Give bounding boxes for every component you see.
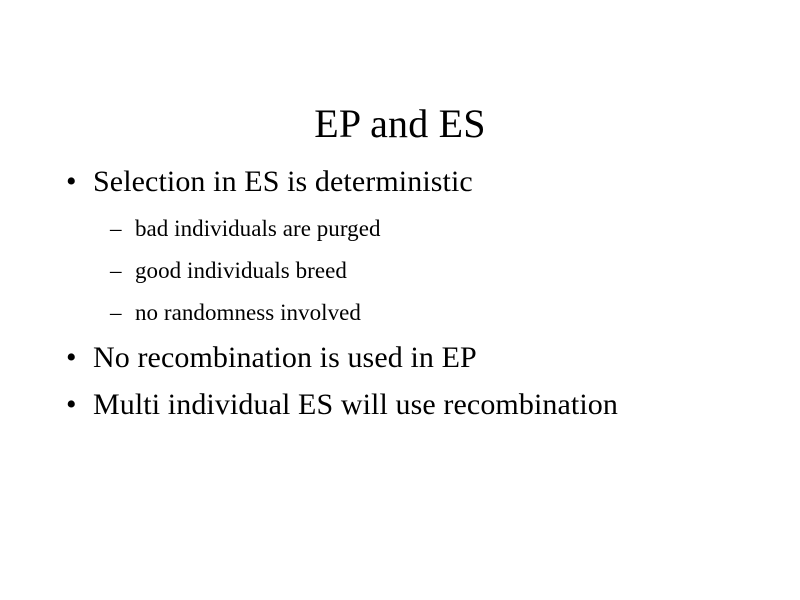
dash-bullet-icon: – bbox=[60, 254, 135, 287]
bullet-item-3: • Multi individual ES will use recombina… bbox=[60, 385, 760, 430]
sub-bullet-group: – bad individuals are purged – good indi… bbox=[60, 212, 760, 330]
bullet-item-2: • No recombination is used in EP bbox=[60, 338, 760, 383]
sub-bullet-text: good individuals breed bbox=[135, 254, 347, 287]
bullet-text: No recombination is used in EP bbox=[93, 338, 477, 378]
sub-bullet-text: no randomness involved bbox=[135, 296, 361, 329]
sub-bullet-item-2: – good individuals breed bbox=[60, 254, 760, 288]
slide-title: EP and ES bbox=[0, 101, 800, 147]
sub-bullet-text: bad individuals are purged bbox=[135, 212, 381, 245]
dash-bullet-icon: – bbox=[60, 212, 135, 245]
sub-bullet-item-3: – no randomness involved bbox=[60, 296, 760, 330]
presentation-slide: EP and ES • Selection in ES is determini… bbox=[0, 0, 800, 600]
bullet-point-icon: • bbox=[60, 338, 93, 378]
dash-bullet-icon: – bbox=[60, 296, 135, 329]
slide-body-bullet-list: • Selection in ES is deterministic – bad… bbox=[60, 162, 760, 432]
bullet-text: Selection in ES is deterministic bbox=[93, 162, 473, 202]
bullet-point-icon: • bbox=[60, 162, 93, 202]
bullet-text: Multi individual ES will use recombinati… bbox=[93, 385, 618, 425]
bullet-point-icon: • bbox=[60, 385, 93, 425]
bullet-item-1: • Selection in ES is deterministic bbox=[60, 162, 760, 207]
sub-bullet-item-1: – bad individuals are purged bbox=[60, 212, 760, 246]
